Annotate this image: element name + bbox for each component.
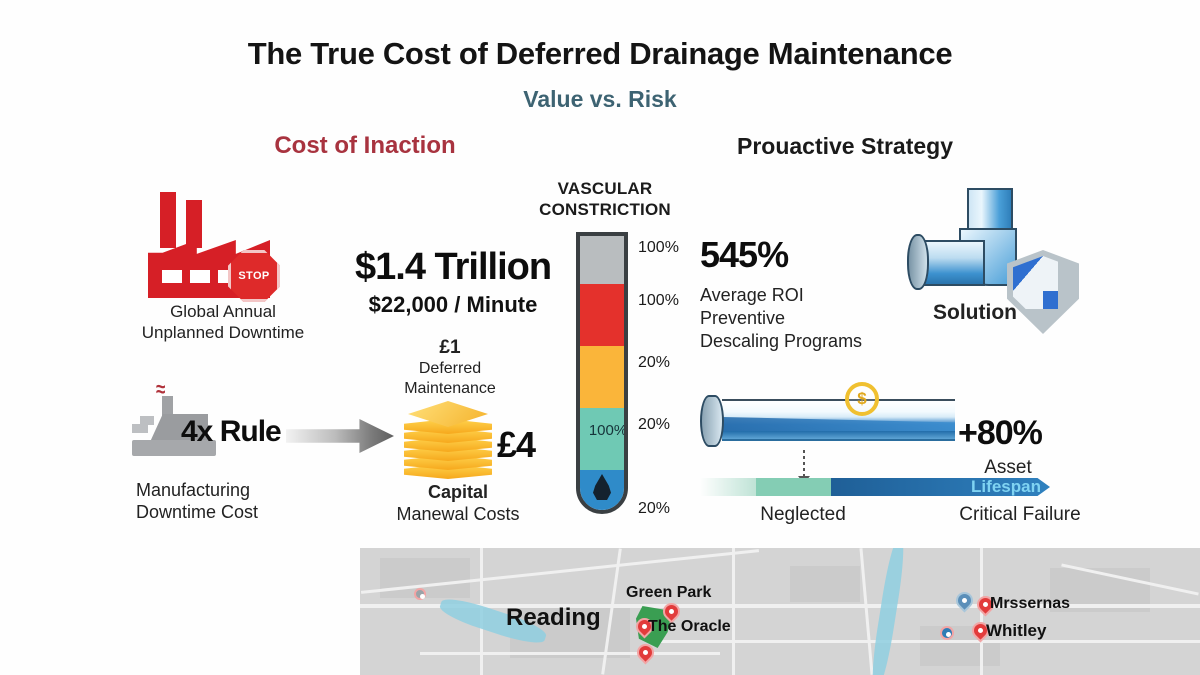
- roi-caption: Average ROI Preventive Descaling Program…: [700, 284, 920, 353]
- vial-title: VASCULAR CONSTRICTION: [520, 178, 690, 221]
- arrow-right-icon: [286, 419, 394, 453]
- vial-segment-lower: [580, 408, 624, 470]
- downtime-caption-line1: Global Annual: [120, 302, 326, 323]
- vial-title-line1: VASCULAR: [520, 178, 690, 199]
- vascular-constriction-gauge: 100%: [576, 232, 628, 514]
- vial-tick-1: 100%: [638, 292, 679, 310]
- vial-tick-4: 20%: [638, 500, 670, 518]
- headline-value: $1.4 Trillion: [355, 246, 551, 289]
- lifespan-bar-neglected-segment: [756, 478, 831, 496]
- downtime-caption: Global Annual Unplanned Downtime: [120, 302, 326, 343]
- vial-inner-label: 100%: [584, 422, 628, 439]
- vial-tick-2: 20%: [638, 354, 670, 372]
- roi-caption-line3: Descaling Programs: [700, 330, 920, 353]
- horizontal-pipe-icon: [700, 395, 955, 447]
- connector-line: [803, 450, 805, 478]
- coin-stack-icon: [404, 404, 492, 482]
- dollar-symbol: $: [857, 389, 866, 409]
- capital-caption-line1: Capital: [378, 482, 538, 504]
- deferred-caption-line2: Maintenance: [382, 379, 518, 399]
- map-label-mrssernas: Mrssernas: [990, 595, 1070, 613]
- map-label-whitley: Whitley: [986, 621, 1046, 641]
- section-heading-proactive-strategy: Prouactive Strategy: [700, 133, 990, 160]
- map-pin-blue[interactable]: [952, 588, 976, 612]
- manufacturing-caption: Manufacturing Downtime Cost: [136, 480, 326, 524]
- roi-caption-line1: Average ROI: [700, 284, 920, 307]
- map-poi-icon[interactable]: [414, 588, 426, 600]
- dollar-coin-icon: $: [845, 382, 879, 416]
- infographic-canvas: The True Cost of Deferred Drainage Maint…: [0, 0, 1200, 675]
- roi-caption-line2: Preventive: [700, 307, 920, 330]
- deferred-caption: Deferred Maintenance: [382, 359, 518, 398]
- state-neglected: Neglected: [733, 503, 873, 526]
- vial-segment-middle: [580, 346, 624, 408]
- four-x-rule-label: 4x Rule: [181, 415, 281, 449]
- stop-sign-label: STOP: [238, 270, 269, 282]
- lifespan-bar-label: Lifespan: [958, 477, 1054, 497]
- headline-rate: $22,000 / Minute: [348, 292, 558, 319]
- capital-caption-line2: Manewal Costs: [378, 504, 538, 526]
- roi-value: 545%: [700, 234, 788, 276]
- lifespan-value: +80%: [958, 414, 1042, 453]
- vial-segment-upper: [580, 284, 624, 346]
- page-title: The True Cost of Deferred Drainage Maint…: [0, 36, 1200, 72]
- map-label-the-oracle: The Oracle: [648, 618, 731, 636]
- section-heading-cost-of-inaction: Cost of Inaction: [200, 132, 530, 160]
- manufacturing-caption-line2: Downtime Cost: [136, 502, 326, 524]
- location-map[interactable]: Reading Green Park The Oracle Mrssernas …: [360, 548, 1200, 675]
- deferred-amount: £1: [392, 336, 508, 359]
- deferred-caption-line1: Deferred: [382, 359, 518, 379]
- capital-amount: £4: [497, 424, 535, 466]
- vial-tick-3: 20%: [638, 416, 670, 434]
- map-label-city: Reading: [506, 604, 601, 632]
- manufacturing-caption-line1: Manufacturing: [136, 480, 326, 502]
- factory-stop-icon: STOP: [142, 192, 302, 307]
- page-subtitle: Value vs. Risk: [0, 86, 1200, 113]
- capital-caption: Capital Manewal Costs: [378, 482, 538, 526]
- solution-label: Solution: [900, 300, 1050, 326]
- lifespan-label: Asset: [958, 456, 1058, 479]
- map-current-location-icon[interactable]: [940, 626, 954, 640]
- vial-segment-top: [580, 236, 624, 284]
- map-label-green-park: Green Park: [626, 584, 711, 602]
- vial-title-line2: CONSTRICTION: [520, 199, 690, 220]
- state-critical-failure: Critical Failure: [930, 503, 1110, 526]
- downtime-caption-line2: Unplanned Downtime: [120, 323, 326, 344]
- vial-tick-0: 100%: [638, 239, 679, 257]
